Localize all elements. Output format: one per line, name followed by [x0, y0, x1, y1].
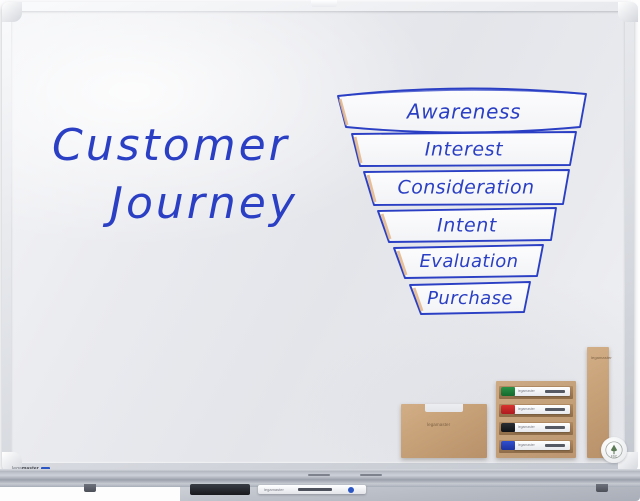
wall-mount-clip — [311, 0, 337, 7]
tray-foot — [596, 484, 608, 492]
marker-label: legamaster — [518, 407, 535, 411]
marker-holder-box[interactable]: legamaster legamaster legamaster legamas… — [496, 381, 576, 458]
marker-green[interactable]: legamaster — [514, 387, 570, 396]
funnel-stage-1: Awareness — [338, 88, 586, 132]
marker-red[interactable]: legamaster — [514, 405, 570, 414]
tray-notch — [308, 474, 330, 476]
marker-cap-red-icon — [501, 405, 515, 414]
frame-corner-top-right — [618, 2, 638, 22]
whiteboard-screenshot: legamaster Customer Journey Awareness — [0, 0, 640, 501]
handwritten-title: Customer Journey — [52, 96, 312, 216]
marker-barcode — [545, 408, 565, 411]
eraser-box-logo: legamaster — [427, 422, 450, 427]
title-line-1: Customer — [52, 120, 290, 171]
funnel-stage-label-2: Interest — [425, 139, 504, 161]
tray-foot — [84, 484, 96, 492]
tray-marker[interactable]: legamaster — [258, 485, 366, 494]
tray-board-eraser[interactable] — [190, 484, 250, 495]
marker-label: legamaster — [518, 443, 535, 447]
tray-marker-barcode — [298, 488, 332, 491]
marker-barcode — [545, 390, 565, 393]
title-line-2: Journey — [102, 178, 298, 229]
funnel-stage-5: Evaluation — [394, 245, 543, 278]
funnel-stage-4: Intent — [378, 208, 556, 242]
marker-black[interactable]: legamaster — [514, 423, 570, 432]
funnel-stage-label-1: Awareness — [405, 100, 521, 124]
marker-cap-blue-icon — [501, 441, 515, 450]
funnel-stage-3: Consideration — [364, 170, 569, 205]
marker-barcode — [545, 426, 565, 429]
marker-barcode — [545, 444, 565, 447]
frame-corner-top-left — [2, 2, 22, 22]
fsc-certification-icon: FSC — [601, 437, 627, 463]
funnel-stage-label-4: Intent — [437, 215, 498, 237]
marker-blue[interactable]: legamaster — [514, 441, 570, 450]
eraser-box[interactable]: legamaster — [401, 404, 487, 458]
marker-label: legamaster — [518, 425, 535, 429]
tall-box-logo: legamaster — [591, 355, 612, 360]
eraser-box-notch — [425, 404, 463, 412]
funnel-stage-label-3: Consideration — [398, 177, 535, 199]
tray-notch — [360, 474, 382, 476]
tray-marker-cap-icon — [348, 487, 354, 493]
funnel-stage-6: Purchase — [410, 282, 530, 314]
tray-marker-label: legamaster — [264, 487, 284, 492]
customer-journey-funnel: Awareness Interest Consideration Intent — [330, 80, 595, 330]
marker-label: legamaster — [518, 389, 535, 393]
funnel-stage-label-6: Purchase — [427, 288, 513, 309]
svg-text:FSC: FSC — [611, 454, 618, 458]
marker-cap-green-icon — [501, 387, 515, 396]
funnel-stage-2: Interest — [352, 132, 576, 166]
marker-cap-black-icon — [501, 423, 515, 432]
funnel-stage-label-5: Evaluation — [420, 251, 519, 272]
